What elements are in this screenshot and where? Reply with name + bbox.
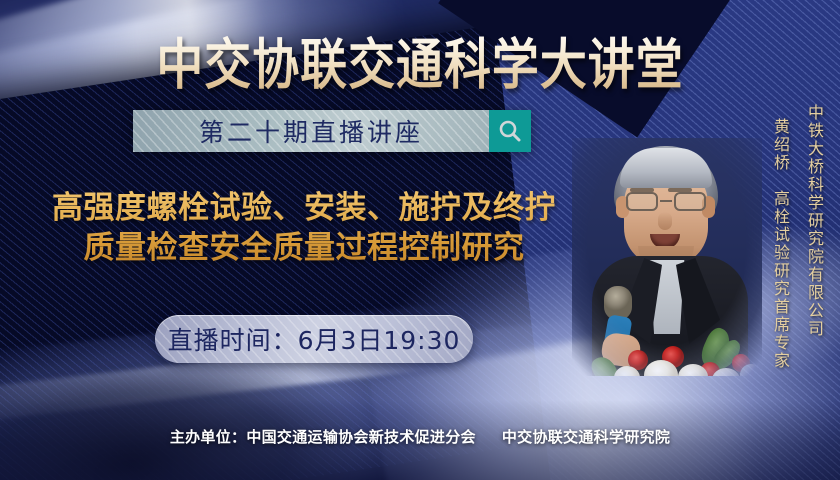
lecture-headline: 高强度螺栓试验、安装、施拧及终拧 质量检查安全质量过程控制研究 <box>8 188 600 269</box>
speaker-hair-top <box>620 148 712 188</box>
speaker-organization: 中铁大桥科学研究院有限公司 <box>802 104 826 338</box>
broadcast-time-label: 直播时间：6月3日19:30 <box>168 321 461 357</box>
flower-bouquet <box>588 334 762 376</box>
speaker-nose <box>658 212 672 230</box>
search-button[interactable] <box>489 110 531 152</box>
headline-line-1: 高强度螺栓试验、安装、施拧及终拧 <box>52 190 556 226</box>
live-stream-poster: 中交协联交通科学大讲堂 第二十期直播讲座 高强度螺栓试验、安装、施拧及终拧 质量… <box>0 0 840 480</box>
glasses-icon <box>624 192 708 211</box>
footer-organizer-primary: 主办单位：中国交通运输协会新技术促进分会 <box>170 428 476 446</box>
search-input-value: 第二十期直播讲座 <box>199 113 423 149</box>
headline-line-2: 质量检查安全质量过程控制研究 <box>8 228 600 268</box>
search-input[interactable]: 第二十期直播讲座 <box>133 110 489 152</box>
footer-organizers: 主办单位：中国交通运输协会新技术促进分会中交协联交通科学研究院 <box>0 426 840 447</box>
broadcast-time-badge: 直播时间：6月3日19:30 <box>155 315 473 363</box>
search-icon <box>497 118 523 144</box>
episode-search-bar[interactable]: 第二十期直播讲座 <box>133 110 531 152</box>
speaker-photo <box>572 138 762 376</box>
speaker-name-title: 黄绍桥 高栓试验研究首席专家 <box>768 118 792 370</box>
page-title: 中交协联交通科学大讲堂 <box>0 22 840 100</box>
footer-organizer-secondary: 中交协联交通科学研究院 <box>502 428 670 446</box>
